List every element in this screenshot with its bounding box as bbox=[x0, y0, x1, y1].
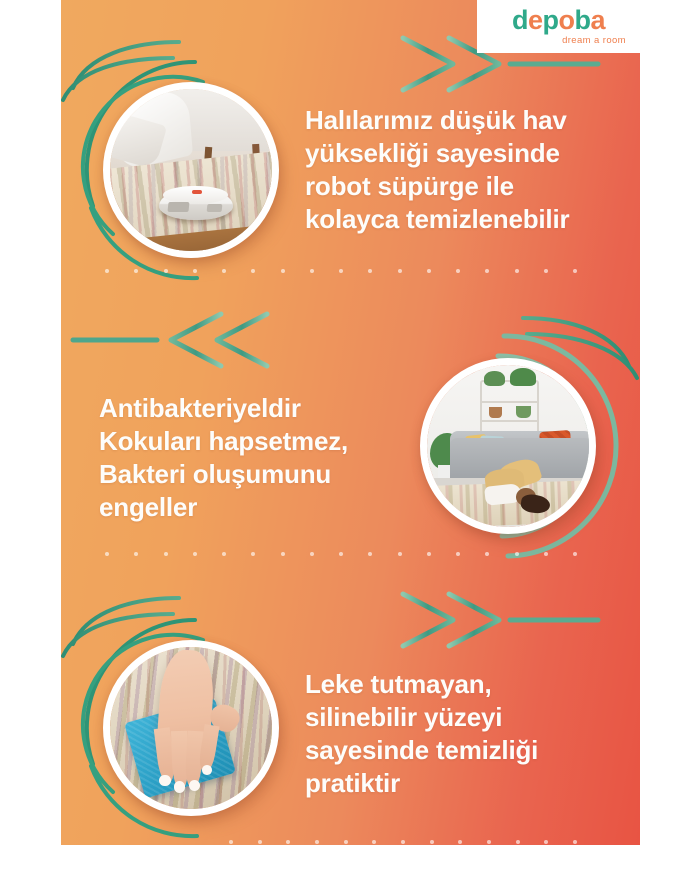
scene-robot-vacuum bbox=[110, 89, 272, 251]
logo-tagline: dream a room bbox=[562, 35, 626, 46]
headline-line: silinebilir yüzeyi bbox=[305, 701, 625, 734]
logo-wordmark: depoba bbox=[512, 7, 605, 34]
circle-photo-3 bbox=[103, 640, 279, 816]
headline-line: Halılarımız düşük hav bbox=[305, 104, 625, 137]
infographic-page: Halılarımız düşük hav yüksekliği sayesin… bbox=[0, 0, 700, 869]
feature-text-3: Leke tutmayan, silinebilir yüzeyi sayesi… bbox=[305, 668, 625, 800]
scene-living-room bbox=[427, 365, 589, 527]
feature-text-2: Antibakteriyeldir Kokuları hapsetmez, Ba… bbox=[99, 392, 419, 524]
feature-headline-1: Halılarımız düşük hav yüksekliği sayesin… bbox=[305, 104, 625, 236]
headline-line: kolayca temizlenebilir bbox=[305, 203, 625, 236]
headline-line: robot süpürge ile bbox=[305, 170, 625, 203]
headline-line: yüksekliği sayesinde bbox=[305, 137, 625, 170]
headline-line: Bakteri oluşumunu bbox=[99, 458, 419, 491]
logo-letter-b: b bbox=[575, 7, 591, 34]
dotted-separator-3 bbox=[229, 840, 577, 845]
logo-letter-a: a bbox=[591, 7, 606, 34]
feature-image-3 bbox=[103, 640, 279, 816]
feature-text-1: Halılarımız düşük hav yüksekliği sayesin… bbox=[305, 104, 625, 236]
gradient-panel: Halılarımız düşük hav yüksekliği sayesin… bbox=[61, 0, 640, 845]
dotted-separator-1 bbox=[105, 269, 577, 274]
circle-photo-1 bbox=[103, 82, 279, 258]
logo-letter-e: e bbox=[528, 7, 543, 34]
feature-headline-3: Leke tutmayan, silinebilir yüzeyi sayesi… bbox=[305, 668, 625, 800]
logo-letter-o: o bbox=[559, 7, 575, 34]
headline-line: pratiktir bbox=[305, 767, 625, 800]
headline-line: Kokuları hapsetmez, bbox=[99, 425, 419, 458]
dotted-separator-2 bbox=[105, 552, 577, 557]
feature-headline-2: Antibakteriyeldir Kokuları hapsetmez, Ba… bbox=[99, 392, 419, 524]
circle-photo-2 bbox=[420, 358, 596, 534]
headline-line: Antibakteriyeldir bbox=[99, 392, 419, 425]
headline-line: sayesinde temizliği bbox=[305, 734, 625, 767]
feature-image-1 bbox=[103, 82, 279, 258]
logo-letter-p: p bbox=[543, 7, 559, 34]
logo-letter-d: d bbox=[512, 7, 528, 34]
headline-line: Leke tutmayan, bbox=[305, 668, 625, 701]
feature-image-2 bbox=[420, 358, 596, 534]
headline-line: engeller bbox=[99, 491, 419, 524]
scene-hand-cleaning bbox=[110, 647, 272, 809]
brand-logo[interactable]: depoba dream a room bbox=[477, 0, 640, 53]
